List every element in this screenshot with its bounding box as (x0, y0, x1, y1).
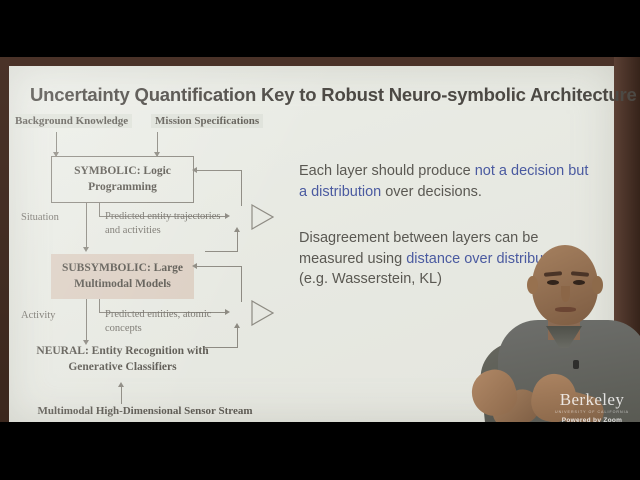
connector-lower-feedback-h (195, 266, 242, 267)
connector-symbolic-to-subsymbolic (86, 203, 87, 250)
input-label-mission-specifications: Mission Specifications (151, 114, 263, 128)
node-neural: NEURAL: Entity Recognition with Generati… (35, 342, 210, 378)
neuro-symbolic-architecture-diagram: Background Knowledge Mission Specificati… (9, 114, 299, 414)
comparator-lower-icon (230, 300, 251, 324)
p2-line3: (e.g. Wasserstein, KL) (299, 271, 442, 287)
connector-neural-to-comparator-v (237, 327, 238, 348)
comparator-upper-icon (230, 204, 251, 228)
speaker-figure: Berkeley UNIVERSITY OF CALIFORNIA Powere… (470, 242, 640, 422)
video-content-area: Uncertainty Quantification Key to Robust… (0, 57, 640, 422)
edge-label-activity: Activity (21, 310, 55, 321)
arrowhead-symbolic-to-subsymbolic (83, 247, 89, 252)
edge-label-predicted-entity: Predicted entity trajectories and activi… (105, 210, 235, 238)
video-frame: Uncertainty Quantification Key to Robust… (0, 0, 640, 480)
arrowhead-sensor-to-neural (118, 382, 124, 387)
speaker-nose (561, 286, 570, 302)
connector-subsym-to-comparator-v (237, 231, 238, 252)
edge-label-predicted-entities: Predicted entities, atomic concepts (105, 308, 225, 336)
arrowhead-neural-to-comparator (234, 323, 240, 328)
edge-label-situation: Situation (21, 212, 59, 223)
speaker-eye-right (573, 280, 585, 285)
slide-title: Uncertainty Quantification Key to Robust… (30, 84, 600, 106)
p1-part1: Each layer should produce (299, 163, 475, 179)
arrowhead-subsym-to-comparator (234, 227, 240, 232)
node-symbolic: SYMBOLIC: Logic Programming (51, 156, 194, 203)
body-paragraph-1: Each layer should produce not a decision… (299, 161, 599, 202)
powered-by-zoom-label: Powered by Zoom (542, 417, 640, 422)
berkeley-subtitle: UNIVERSITY OF CALIFORNIA (542, 410, 640, 414)
connector-lower-feedback-v (241, 266, 242, 302)
input-label-background-knowledge: Background Knowledge (11, 114, 132, 128)
speaker-eye-left (547, 280, 559, 285)
connector-subsym-to-comparator-h (205, 251, 237, 252)
speaker-ear-left (527, 276, 538, 294)
berkeley-wordmark: Berkeley (542, 390, 640, 410)
connector-comparator-feedback-v (241, 170, 242, 206)
node-sensor-stream: Multimodal High-Dimensional Sensor Strea… (35, 402, 255, 420)
arrowhead-comparator-to-symbolic (192, 167, 197, 173)
speaker-lapel-microphone (573, 360, 579, 369)
wall-top-strip (0, 57, 640, 66)
connector-symbolic-out-v (99, 203, 100, 216)
speaker-ear-right (592, 276, 603, 294)
connector-subsymbolic-to-neural (86, 299, 87, 343)
speaker-head (532, 245, 598, 325)
arrowhead-lower-to-subsymbolic (192, 263, 197, 269)
berkeley-watermark: Berkeley UNIVERSITY OF CALIFORNIA Powere… (542, 390, 640, 422)
node-subsymbolic: SUBSYMBOLIC: Large Multimodal Models (51, 254, 194, 299)
p1-part2: over decisions. (381, 184, 482, 200)
wall-left-strip (0, 57, 9, 422)
speaker-mouth (555, 307, 576, 312)
connector-subsym-out-v (99, 299, 100, 312)
connector-comparator-feedback-h (195, 170, 242, 171)
